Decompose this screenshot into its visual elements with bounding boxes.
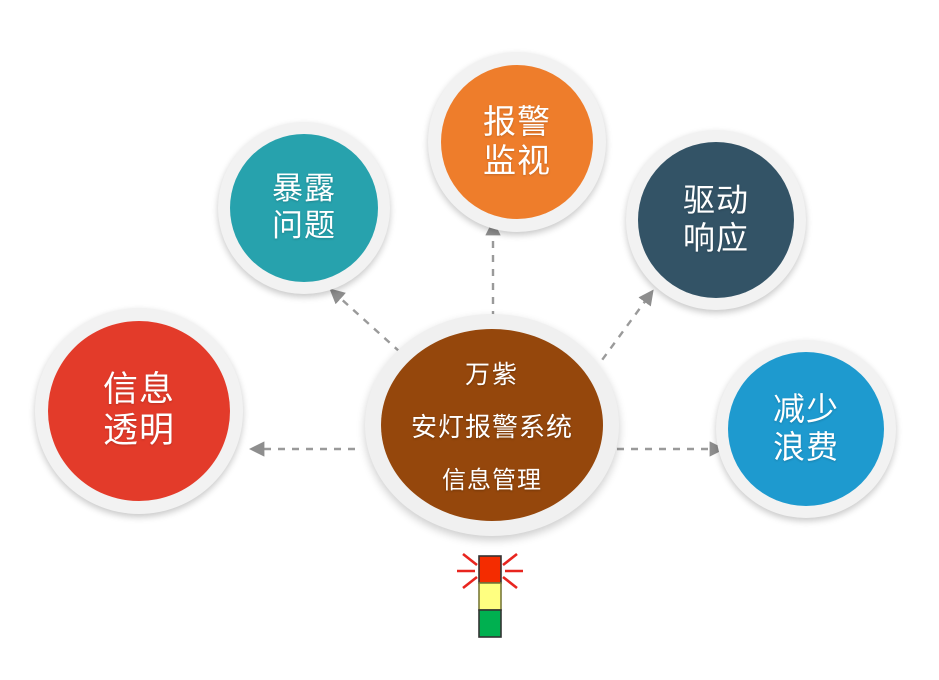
node-expose-problems-line1: 暴露 xyxy=(272,171,336,208)
node-alarm-monitor-line1: 报警 xyxy=(483,103,551,142)
andon-light-tower xyxy=(455,548,525,648)
node-reduce-waste[interactable]: 减少 浪费 xyxy=(716,340,896,518)
node-reduce-waste-core: 减少 浪费 xyxy=(728,352,884,506)
center-hub-core: 万紫 安灯报警系统 信息管理 xyxy=(381,329,603,521)
node-alarm-monitor-core: 报警 监视 xyxy=(441,65,593,219)
node-drive-response-line1: 驱动 xyxy=(683,182,749,220)
node-information-transparency-line1: 信息 xyxy=(103,370,175,411)
andon-yellow-light xyxy=(479,583,501,610)
node-information-transparency-core: 信息 透明 xyxy=(48,321,230,501)
node-expose-problems-line2: 问题 xyxy=(272,208,336,245)
andon-red-light xyxy=(479,556,501,583)
node-reduce-waste-line2: 浪费 xyxy=(773,429,839,467)
diagram-canvas: 报警 监视 暴露 问题 驱动 响应 信息 透明 减少 浪费 万紫 安 xyxy=(0,0,939,680)
node-alarm-monitor[interactable]: 报警 监视 xyxy=(428,52,606,232)
node-reduce-waste-line1: 减少 xyxy=(773,391,839,429)
node-information-transparency[interactable]: 信息 透明 xyxy=(35,308,243,514)
andon-green-light xyxy=(479,610,501,637)
node-expose-problems-core: 暴露 问题 xyxy=(230,134,378,282)
center-hub[interactable]: 万紫 安灯报警系统 信息管理 xyxy=(365,314,619,536)
node-drive-response-core: 驱动 响应 xyxy=(638,142,794,298)
center-hub-line2: 安灯报警系统 xyxy=(411,407,573,444)
center-hub-line1: 万紫 xyxy=(465,355,519,391)
arrow-to-expose-problems xyxy=(339,297,400,352)
node-alarm-monitor-line2: 监视 xyxy=(483,142,551,181)
node-expose-problems[interactable]: 暴露 问题 xyxy=(218,122,390,294)
node-drive-response[interactable]: 驱动 响应 xyxy=(626,130,806,310)
node-information-transparency-line2: 透明 xyxy=(103,411,175,452)
node-drive-response-line2: 响应 xyxy=(683,220,749,258)
arrow-to-drive-response xyxy=(594,300,646,371)
center-hub-line3: 信息管理 xyxy=(442,460,542,495)
